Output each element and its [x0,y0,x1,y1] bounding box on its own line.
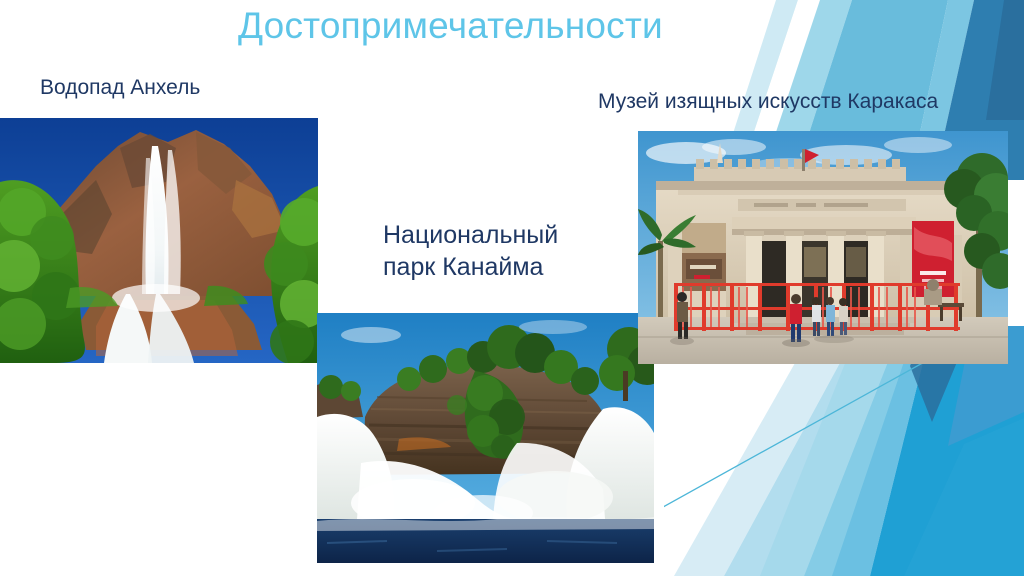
deco-wedge-overlay-2 [904,418,1024,576]
angel-falls-photo [0,118,318,363]
caption-museum: Музей изящных искусств Каракаса [598,88,938,116]
caption-angel-falls: Водопад Анхель [40,74,200,102]
caption-canaima-park: Национальный парк Канайма [383,219,603,283]
caption-canaima-line2: парк Канайма [383,251,603,283]
deco-band-steel-dark [986,0,1024,120]
presentation-slide: Достопримечательности Водопад Анхель Муз… [0,0,1024,576]
accent-line-stroke [664,340,964,512]
slide-title: Достопримечательности [238,2,663,50]
person-group [812,297,848,336]
museum-photo [638,131,1008,364]
caption-canaima-line1: Национальный [383,221,558,249]
canaima-park-photo [317,313,654,563]
